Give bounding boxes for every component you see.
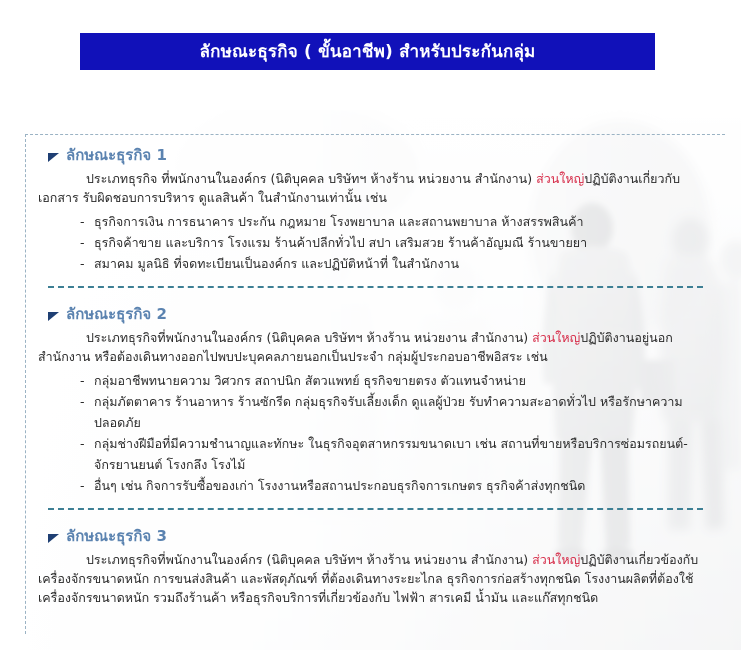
list-item-text: สมาคม มูลนิธิ ที่จดทะเบียนเป็นองค์กร และ… xyxy=(94,256,459,271)
section-business-type-3: ลักษณะธุรกิจ 3 ประเภทธุรกิจที่พนักงานในอ… xyxy=(38,524,725,607)
list-item-text: ธุรกิจค้าขาย และบริการ โรงแรม ร้านค้าปลี… xyxy=(94,235,587,250)
list-item-text: กลุ่มภัตตาคาร ร้านอาหาร ร้านซักรีด กลุ่ม… xyxy=(94,394,683,430)
dash-bullet-icon: - xyxy=(80,475,85,496)
page-header-banner: ลักษณะธุรกิจ ( ขั้นอาชีพ) สำหรับประกันกล… xyxy=(80,33,655,70)
section-business-type-2: ลักษณะธุรกิจ 2 ประเภทธุรกิจที่พนักงานในอ… xyxy=(38,302,725,496)
dash-bullet-icon: - xyxy=(80,211,85,232)
section-2-bullet-list: -กลุ่มอาชีพทนายความ วิศวกร สถาปนิก สัตวแ… xyxy=(38,370,725,496)
section-1-bullet-list: -ธุรกิจการเงิน การธนาคาร ประกัน กฎหมาย โ… xyxy=(38,211,725,274)
section-3-title: ลักษณะธุรกิจ 3 xyxy=(66,524,167,548)
dash-bullet-icon: - xyxy=(80,391,85,412)
list-item-text: ธุรกิจการเงิน การธนาคาร ประกัน กฎหมาย โร… xyxy=(94,214,583,229)
section-business-type-1: ลักษณะธุรกิจ 1 ประเภทธุรกิจ ที่พนักงานใน… xyxy=(38,143,725,274)
section-1-header: ลักษณะธุรกิจ 1 xyxy=(48,143,725,167)
list-item-text: กลุ่มอาชีพทนายความ วิศวกร สถาปนิก สัตวแพ… xyxy=(94,373,526,388)
section-1-highlight: ส่วนใหญ่ xyxy=(536,171,584,186)
list-item-text: อื่นๆ เช่น กิจการรับซื้อของเก่า โรงงานหร… xyxy=(94,478,585,493)
content-panel: ลักษณะธุรกิจ 1 ประเภทธุรกิจ ที่พนักงานใน… xyxy=(25,134,725,634)
section-3-paragraph: ประเภทธุรกิจที่พนักงานในองค์กร (นิติบุคค… xyxy=(38,550,702,607)
section-divider-1 xyxy=(48,286,703,288)
section-3-highlight: ส่วนใหญ่ xyxy=(532,552,580,567)
list-item: -กลุ่มภัตตาคาร ร้านอาหาร ร้านซักรีด กลุ่… xyxy=(80,391,725,433)
list-item: -ธุรกิจการเงิน การธนาคาร ประกัน กฎหมาย โ… xyxy=(80,211,725,232)
section-2-paragraph-pre: ประเภทธุรกิจที่พนักงานในองค์กร (นิติบุคค… xyxy=(86,330,532,345)
section-2-paragraph: ประเภทธุรกิจที่พนักงานในองค์กร (นิติบุคค… xyxy=(38,328,702,366)
list-item: -สมาคม มูลนิธิ ที่จดทะเบียนเป็นองค์กร แล… xyxy=(80,253,725,274)
dash-bullet-icon: - xyxy=(80,232,85,253)
section-3-header: ลักษณะธุรกิจ 3 xyxy=(48,524,725,548)
section-2-highlight: ส่วนใหญ่ xyxy=(532,330,580,345)
triangle-right-icon xyxy=(48,534,59,543)
list-item: -กลุ่มช่างฝีมือที่มีความชำนาญและทักษะ ใน… xyxy=(80,433,725,475)
page-title: ลักษณะธุรกิจ ( ขั้นอาชีพ) สำหรับประกันกล… xyxy=(200,38,536,65)
section-1-paragraph: ประเภทธุรกิจ ที่พนักงานในองค์กร (นิติบุค… xyxy=(38,169,702,207)
dash-bullet-icon: - xyxy=(80,370,85,391)
triangle-right-icon xyxy=(48,153,59,162)
dash-bullet-icon: - xyxy=(80,433,85,454)
section-2-title: ลักษณะธุรกิจ 2 xyxy=(66,302,167,326)
list-item-text: กลุ่มช่างฝีมือที่มีความชำนาญและทักษะ ในธ… xyxy=(94,436,688,472)
section-3-paragraph-pre: ประเภทธุรกิจที่พนักงานในองค์กร (นิติบุคค… xyxy=(86,552,532,567)
list-item: -กลุ่มอาชีพทนายความ วิศวกร สถาปนิก สัตวแ… xyxy=(80,370,725,391)
dash-bullet-icon: - xyxy=(80,253,85,274)
triangle-right-icon xyxy=(48,312,59,321)
section-1-title: ลักษณะธุรกิจ 1 xyxy=(66,143,167,167)
list-item: -ธุรกิจค้าขาย และบริการ โรงแรม ร้านค้าปล… xyxy=(80,232,725,253)
list-item: -อื่นๆ เช่น กิจการรับซื้อของเก่า โรงงานห… xyxy=(80,475,725,496)
section-2-header: ลักษณะธุรกิจ 2 xyxy=(48,302,725,326)
section-1-paragraph-pre: ประเภทธุรกิจ ที่พนักงานในองค์กร (นิติบุค… xyxy=(86,171,536,186)
section-divider-2 xyxy=(48,508,703,510)
